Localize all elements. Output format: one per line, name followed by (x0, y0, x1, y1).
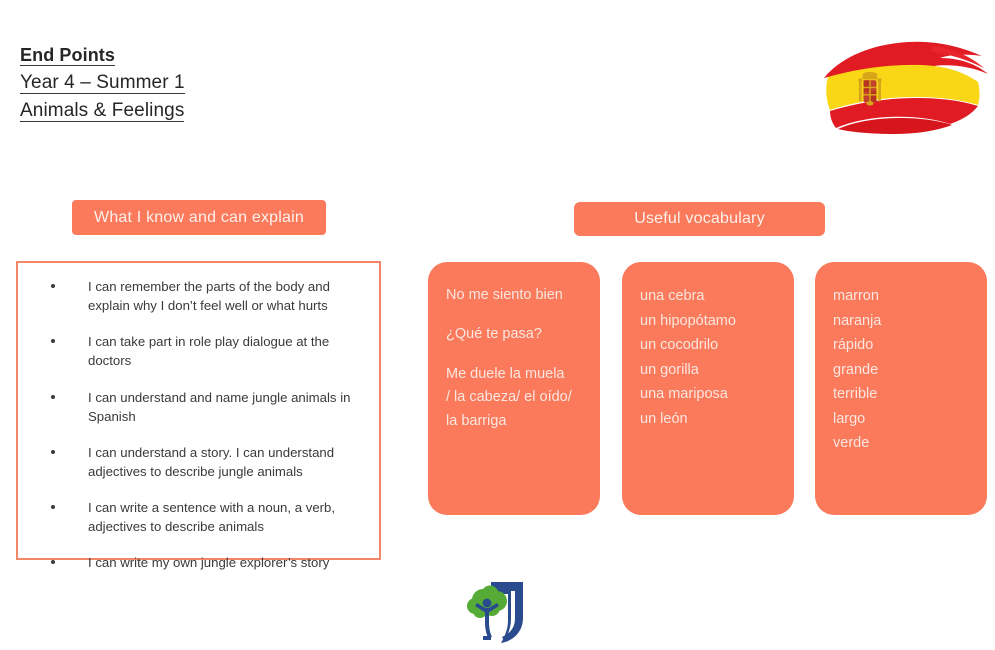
phrase-line: Me duele la muela (446, 363, 582, 386)
vocab-word: un león (640, 407, 776, 432)
page-title: End Points Year 4 – Summer 1 Animals & F… (20, 46, 185, 129)
vocab-word: grande (833, 358, 969, 383)
list-item: I can understand a story. I can understa… (18, 443, 371, 481)
vocab-word: una mariposa (640, 382, 776, 407)
phrase-group: ¿Qué te pasa? (446, 323, 582, 346)
vocab-word: naranja (833, 309, 969, 334)
vocab-word: rápido (833, 333, 969, 358)
phrase-line: ¿Qué te pasa? (446, 323, 582, 346)
phrase-line: No me siento bien (446, 284, 582, 307)
banner-useful-vocabulary: Useful vocabulary (574, 202, 825, 236)
bullet-dot-icon (51, 395, 55, 399)
vocab-word: una cebra (640, 284, 776, 309)
vocab-word: marron (833, 284, 969, 309)
bullet-dot-icon (51, 505, 55, 509)
list-item-text: I can understand a story. I can understa… (88, 445, 334, 479)
banner-left-label: What I know and can explain (94, 209, 304, 227)
bullet-dot-icon (51, 284, 55, 288)
vocab-word: un hipopótamo (640, 309, 776, 334)
vocab-word: un cocodrilo (640, 333, 776, 358)
list-item-text: I can write my own jungle explorer’s sto… (88, 555, 329, 570)
vocab-word: un gorilla (640, 358, 776, 383)
list-item: I can write a sentence with a noun, a ve… (18, 498, 371, 536)
phrase-group: No me siento bien (446, 284, 582, 307)
vocab-word: terrible (833, 382, 969, 407)
banner-what-i-know: What I know and can explain (72, 200, 326, 235)
list-item-text: I can take part in role play dialogue at… (88, 334, 329, 368)
title-line-end-points: End Points (20, 46, 115, 66)
list-item: I can remember the parts of the body and… (18, 277, 371, 315)
vocabulary-card-phrases: No me siento bien ¿Qué te pasa? Me duele… (428, 262, 600, 515)
vocabulary-card-adjectives: marron naranja rápido grande terrible la… (815, 262, 987, 515)
objectives-list: I can remember the parts of the body and… (18, 277, 371, 573)
bullet-dot-icon (51, 450, 55, 454)
title-line-topic: Animals & Feelings (20, 101, 184, 122)
list-item: I can take part in role play dialogue at… (18, 332, 371, 370)
vocab-word: largo (833, 407, 969, 432)
list-item: I can write my own jungle explorer’s sto… (18, 553, 371, 572)
know-and-explain-box: I can remember the parts of the body and… (16, 261, 381, 560)
list-item: I can understand and name jungle animals… (18, 388, 371, 426)
phrase-line: la barriga (446, 410, 582, 433)
phrase-group: Me duele la muela / la cabeza/ el oído/ … (446, 363, 582, 433)
school-logo-icon (461, 578, 539, 646)
spanish-flag-icon (812, 34, 990, 146)
vocab-word: verde (833, 431, 969, 456)
banner-right-label: Useful vocabulary (634, 210, 765, 228)
bullet-dot-icon (51, 560, 55, 564)
bullet-dot-icon (51, 339, 55, 343)
title-line-year-term: Year 4 – Summer 1 (20, 73, 185, 94)
list-item-text: I can remember the parts of the body and… (88, 279, 330, 313)
phrase-line: / la cabeza/ el oído/ (446, 386, 582, 409)
list-item-text: I can understand and name jungle animals… (88, 390, 350, 424)
list-item-text: I can write a sentence with a noun, a ve… (88, 500, 335, 534)
vocabulary-card-animals: una cebra un hipopótamo un cocodrilo un … (622, 262, 794, 515)
